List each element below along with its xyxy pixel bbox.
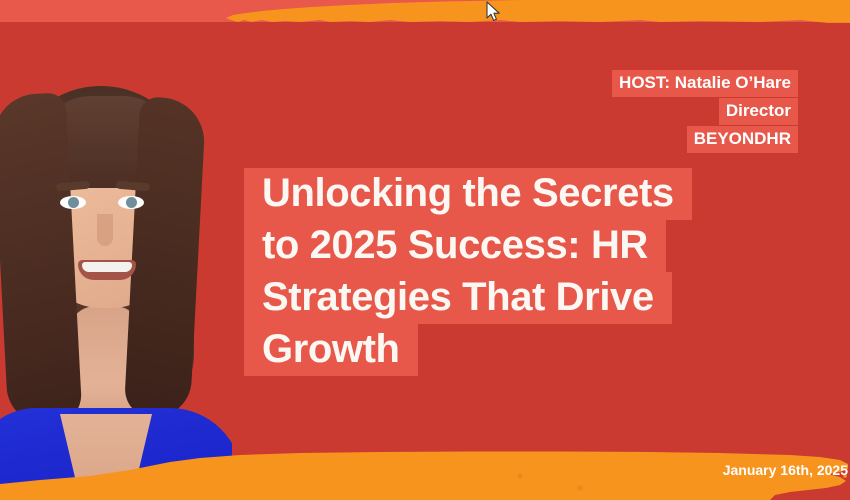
presenter-nose bbox=[97, 214, 113, 246]
presenter-photo bbox=[0, 78, 232, 500]
page-title: Unlocking the Secrets to 2025 Success: H… bbox=[244, 168, 692, 376]
presenter-teeth bbox=[82, 262, 132, 272]
title-line-4: Growth bbox=[244, 324, 418, 376]
presenter-iris-left bbox=[68, 197, 79, 208]
host-role-line: Director bbox=[719, 98, 798, 125]
title-line-3: Strategies That Drive bbox=[244, 272, 672, 324]
top-orange-brush-stroke bbox=[0, 0, 850, 24]
mouse-cursor-icon bbox=[486, 1, 502, 23]
presenter-iris-right bbox=[126, 197, 137, 208]
title-line-1: Unlocking the Secrets bbox=[244, 168, 692, 220]
title-line-2: to 2025 Success: HR bbox=[244, 220, 666, 272]
host-credit-block: HOST: Natalie O’Hare Director BEYONDHR bbox=[612, 70, 798, 153]
webinar-title-slide: HOST: Natalie O’Hare Director BEYONDHR U… bbox=[0, 0, 850, 500]
host-company-line: BEYONDHR bbox=[687, 126, 798, 153]
webinar-date: January 16th, 2025 bbox=[723, 462, 848, 478]
presenter-mouth bbox=[78, 260, 136, 280]
host-name-line: HOST: Natalie O’Hare bbox=[612, 70, 798, 97]
